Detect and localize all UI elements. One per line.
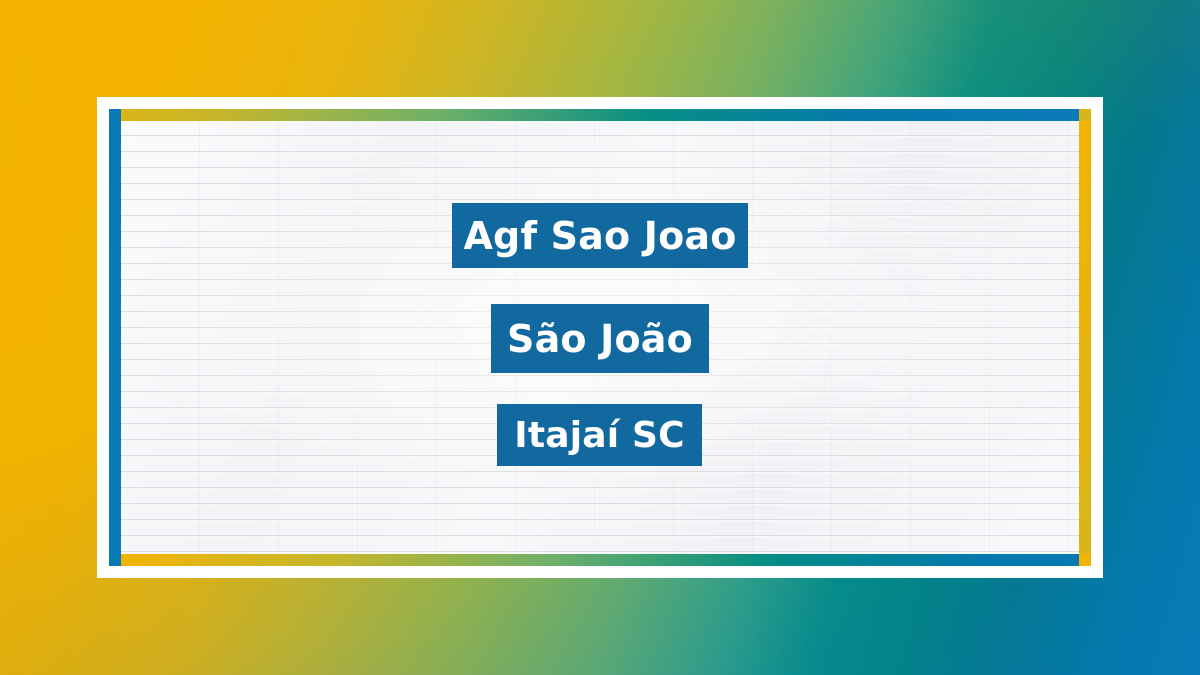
- label-city: São João: [491, 304, 709, 373]
- screenshot-stage: Agf Sao Joao São João Itajaí SC: [0, 0, 1200, 675]
- label-title: Agf Sao Joao: [452, 203, 748, 268]
- label-stack: Agf Sao Joao São João Itajaí SC: [0, 0, 1200, 675]
- label-region: Itajaí SC: [497, 404, 702, 466]
